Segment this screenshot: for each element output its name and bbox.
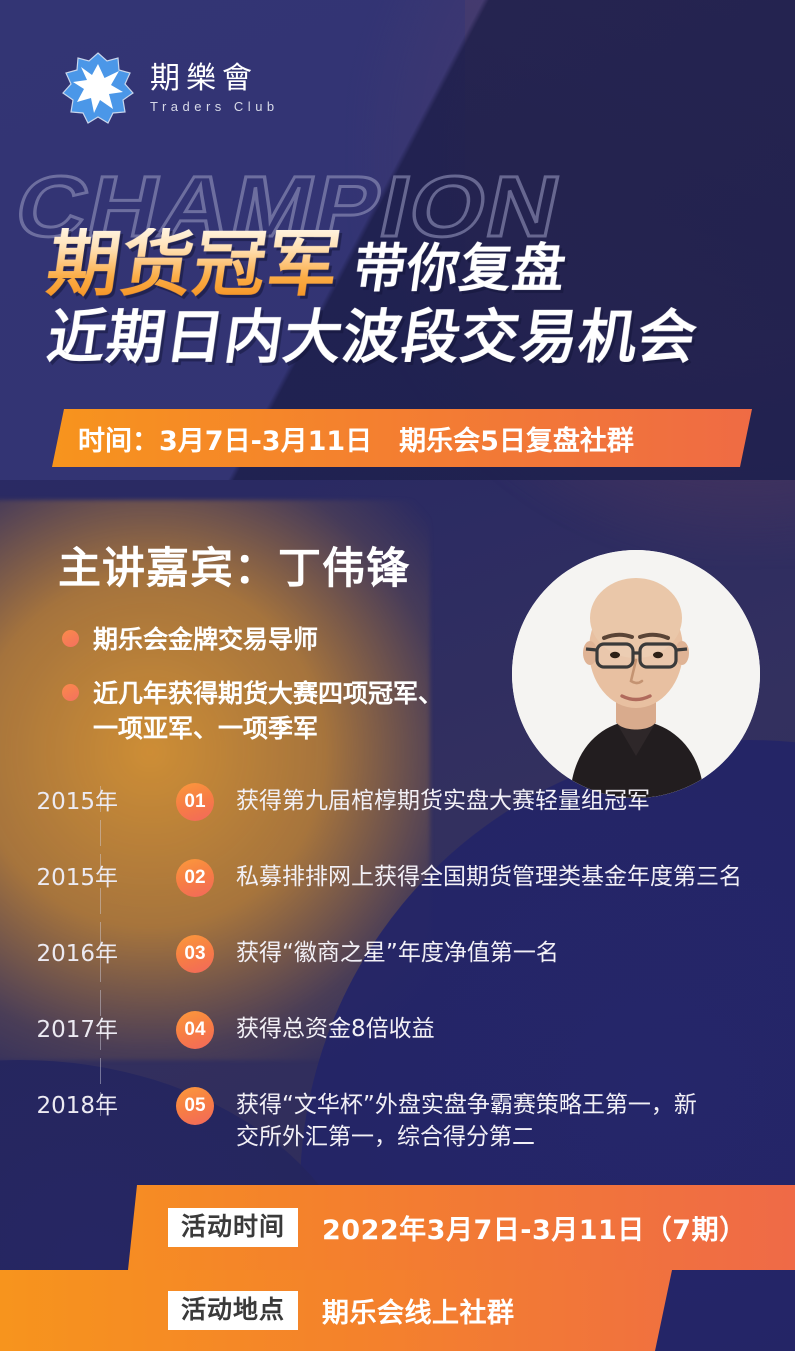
list-item: 2018年 05 获得“文华杯”外盘实盘争霸赛策略王第一，新 交所外汇第一，综合… [0, 1086, 795, 1153]
headline-line-2: 近期日内大波段交易机会 [44, 307, 773, 368]
timeline-description: 获得“徽商之星”年度净值第一名 [236, 934, 559, 970]
time-banner-text: 时间：3月7日-3月11日 期乐会5日复盘社群 [78, 419, 634, 458]
timeline-number-badge: 04 [176, 1011, 214, 1049]
brand-name-cn: 期樂會 [150, 62, 279, 95]
timeline-year: 2018年 [0, 1086, 118, 1126]
timeline-year: 2015年 [0, 782, 118, 822]
event-time-value: 2022年3月7日-3月11日（7期） [322, 1208, 747, 1247]
achievements-timeline: 2015年 01 获得第九届棺椁期货实盘大赛轻量组冠军 2015年 02 私募排… [0, 782, 795, 1177]
event-place-label: 活动地点 [168, 1291, 298, 1331]
bullet-text: 期乐会金牌交易导师 [93, 622, 318, 658]
brand-text: 期樂會 Traders Club [150, 62, 279, 114]
headline-highlight: 期货冠军 [43, 228, 345, 301]
speaker-bullet-list: 期乐会金牌交易导师 近几年获得期货大赛四项冠军、 一项亚军、一项季军 [62, 622, 482, 765]
speaker-title: 主讲嘉宾：丁伟锋 [58, 534, 410, 596]
time-banner: 时间：3月7日-3月11日 期乐会5日复盘社群 [52, 409, 752, 467]
list-item: 2015年 02 私募排排网上获得全国期货管理类基金年度第三名 [0, 858, 795, 910]
timeline-year: 2015年 [0, 858, 118, 898]
eight-point-star-logo-icon [62, 52, 134, 124]
event-place-value: 期乐会线上社群 [322, 1291, 515, 1330]
timeline-description: 私募排排网上获得全国期货管理类基金年度第三名 [236, 858, 742, 894]
bullet-dot-icon [62, 684, 79, 701]
timeline-description: 获得“文华杯”外盘实盘争霸赛策略王第一，新 交所外汇第一，综合得分第二 [236, 1086, 697, 1153]
timeline-number-badge: 05 [176, 1087, 214, 1125]
bullet-dot-icon [62, 630, 79, 647]
list-item: 2017年 04 获得总资金8倍收益 [0, 1010, 795, 1062]
timeline-description: 获得第九届棺椁期货实盘大赛轻量组冠军 [236, 782, 650, 818]
event-time-label: 活动时间 [168, 1208, 298, 1248]
brand-name-en: Traders Club [150, 99, 279, 114]
list-item: 2015年 01 获得第九届棺椁期货实盘大赛轻量组冠军 [0, 782, 795, 834]
avatar [512, 550, 760, 798]
timeline-number-badge: 01 [176, 783, 214, 821]
headline-line-1: 期货冠军 带你复盘 [48, 228, 768, 301]
poster-root: 期樂會 Traders Club CHAMPION 期货冠军 带你复盘 近期日内… [0, 0, 795, 1351]
bullet-text: 近几年获得期货大赛四项冠军、 一项亚军、一项季军 [93, 676, 443, 747]
timeline-year: 2016年 [0, 934, 118, 974]
brand-logo: 期樂會 Traders Club [62, 52, 279, 124]
list-item: 期乐会金牌交易导师 [62, 622, 482, 658]
list-item: 近几年获得期货大赛四项冠军、 一项亚军、一项季军 [62, 676, 482, 747]
headline-rest: 带你复盘 [350, 243, 569, 295]
timeline-year: 2017年 [0, 1010, 118, 1050]
list-item: 2016年 03 获得“徽商之星”年度净值第一名 [0, 934, 795, 986]
timeline-number-badge: 02 [176, 859, 214, 897]
headline-block: 期货冠军 带你复盘 近期日内大波段交易机会 [48, 228, 768, 368]
timeline-number-badge: 03 [176, 935, 214, 973]
timeline-description: 获得总资金8倍收益 [236, 1010, 435, 1046]
